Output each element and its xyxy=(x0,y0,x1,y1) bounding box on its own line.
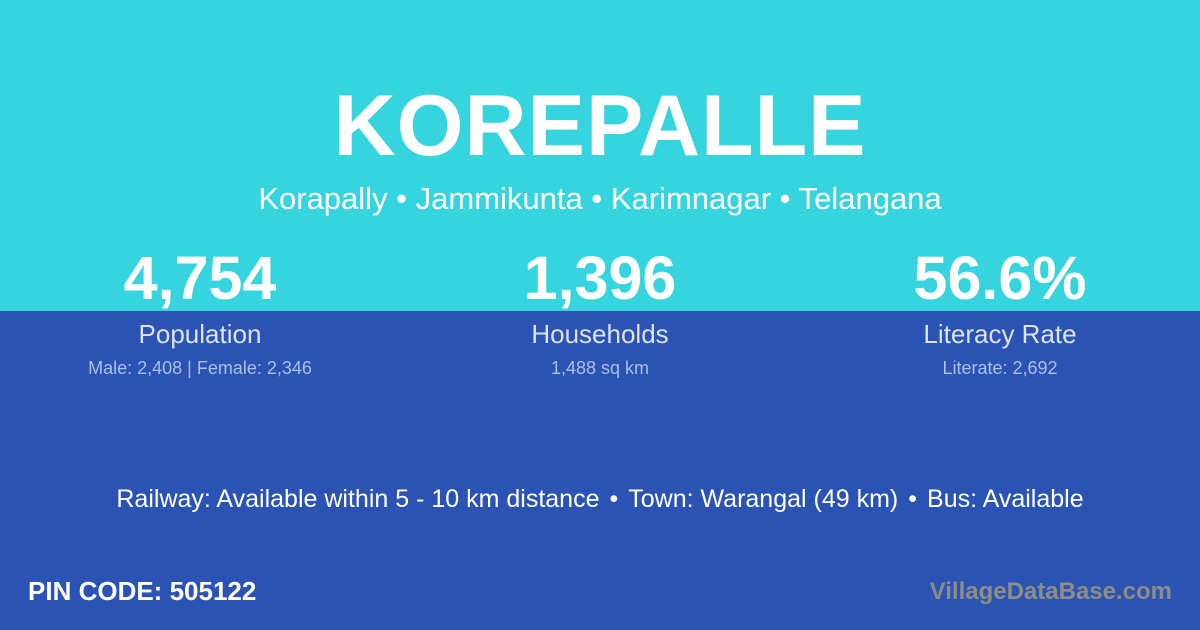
info-separator-2: • xyxy=(898,485,927,513)
stat-literacy-rate-value: 56.6% xyxy=(800,248,1200,309)
stat-population-sub: Male: 2,408 | Female: 2,346 xyxy=(0,357,400,379)
transport-info-row: Railway: Available within 5 - 10 km dist… xyxy=(0,484,1200,514)
stat-households-value: 1,396 xyxy=(400,248,800,309)
page-title: KOREPALLE xyxy=(0,83,1200,169)
village-info-card: KOREPALLE Korapally • Jammikunta • Karim… xyxy=(0,0,1200,630)
stat-literacy-rate: 56.6% Literacy Rate Literate: 2,692 xyxy=(800,248,1200,379)
site-brand-logo: VillageDataBase.com xyxy=(930,578,1172,606)
stat-literacy-rate-sub: Literate: 2,692 xyxy=(800,357,1200,379)
stat-literacy-rate-label: Literacy Rate xyxy=(800,319,1200,349)
breadcrumb: Korapally • Jammikunta • Karimnagar • Te… xyxy=(0,182,1200,216)
info-separator-1: • xyxy=(599,485,628,513)
stat-households-sub: 1,488 sq km xyxy=(400,357,800,379)
stats-row: 4,754 Population Male: 2,408 | Female: 2… xyxy=(0,248,1200,379)
info-railway: Railway: Available within 5 - 10 km dist… xyxy=(116,485,599,513)
stat-population-label: Population xyxy=(0,319,400,349)
stat-population: 4,754 Population Male: 2,408 | Female: 2… xyxy=(0,248,400,379)
info-town: Town: Warangal (49 km) xyxy=(628,485,898,513)
stat-population-value: 4,754 xyxy=(0,248,400,309)
stat-households: 1,396 Households 1,488 sq km xyxy=(400,248,800,379)
pin-code: PIN CODE: 505122 xyxy=(28,576,256,606)
stat-households-label: Households xyxy=(400,319,800,349)
info-bus: Bus: Available xyxy=(927,485,1084,513)
